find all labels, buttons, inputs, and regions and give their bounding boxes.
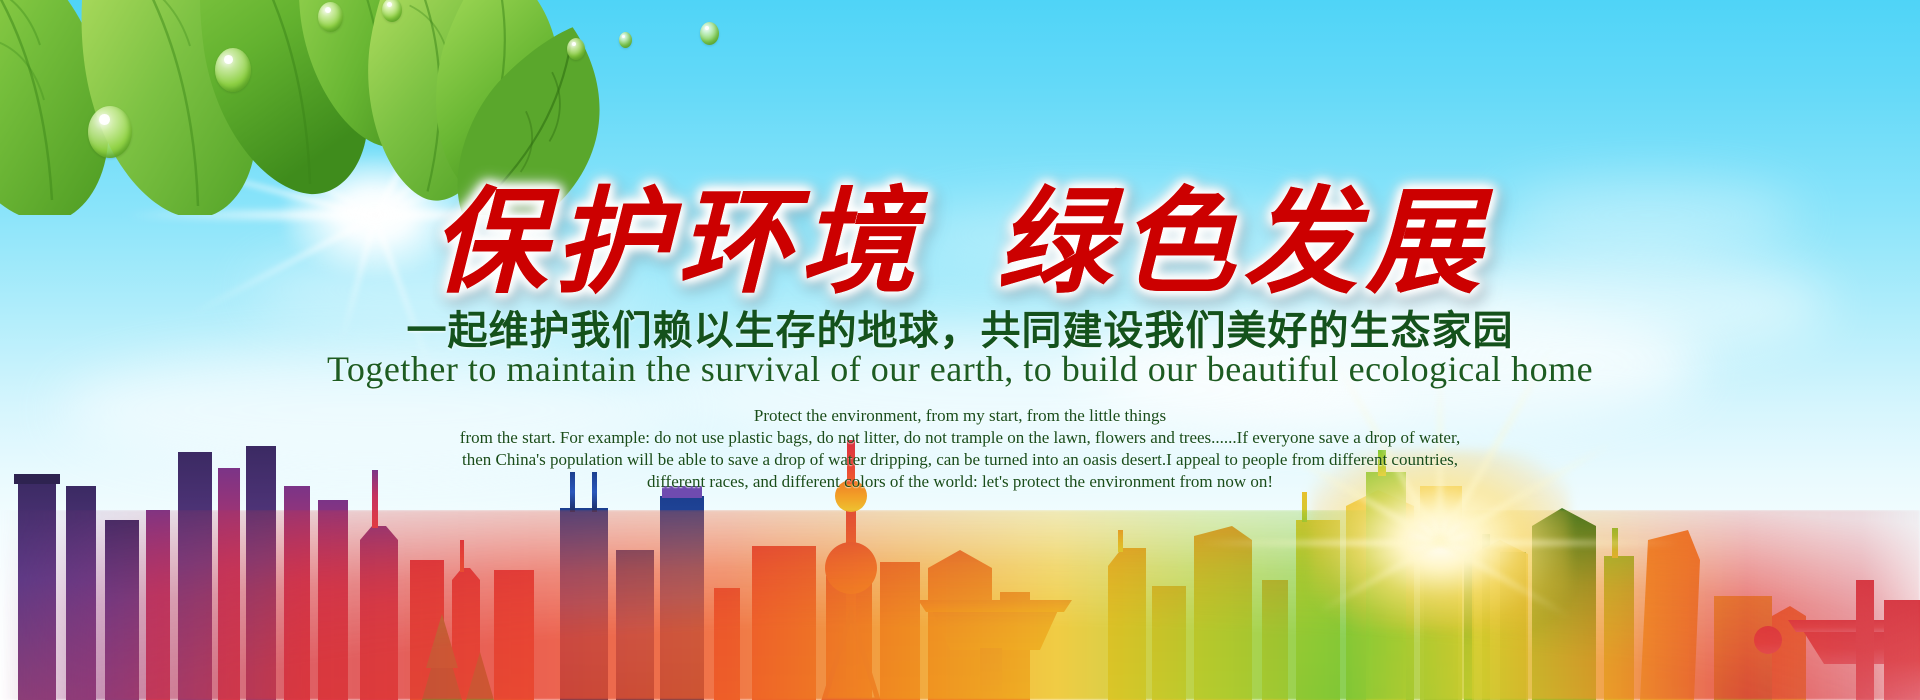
poster-title: 保护环境 绿色发展 (0, 150, 1920, 316)
poster-text-content: 保护环境 绿色发展 一起维护我们赖以生存的地球，共同建设我们美好的生态家园 To… (0, 0, 1920, 700)
paragraph-line: then China's population will be able to … (0, 449, 1920, 471)
paragraph-line: different races, and different colors of… (0, 471, 1920, 493)
paragraph-line: Protect the environment, from my start, … (0, 405, 1920, 427)
poster-subtitle-english: Together to maintain the survival of our… (0, 348, 1920, 390)
paragraph-line: from the start. For example: do not use … (0, 427, 1920, 449)
poster-paragraph: Protect the environment, from my start, … (0, 405, 1920, 493)
eco-poster-banner: 保护环境 绿色发展 一起维护我们赖以生存的地球，共同建设我们美好的生态家园 To… (0, 0, 1920, 700)
